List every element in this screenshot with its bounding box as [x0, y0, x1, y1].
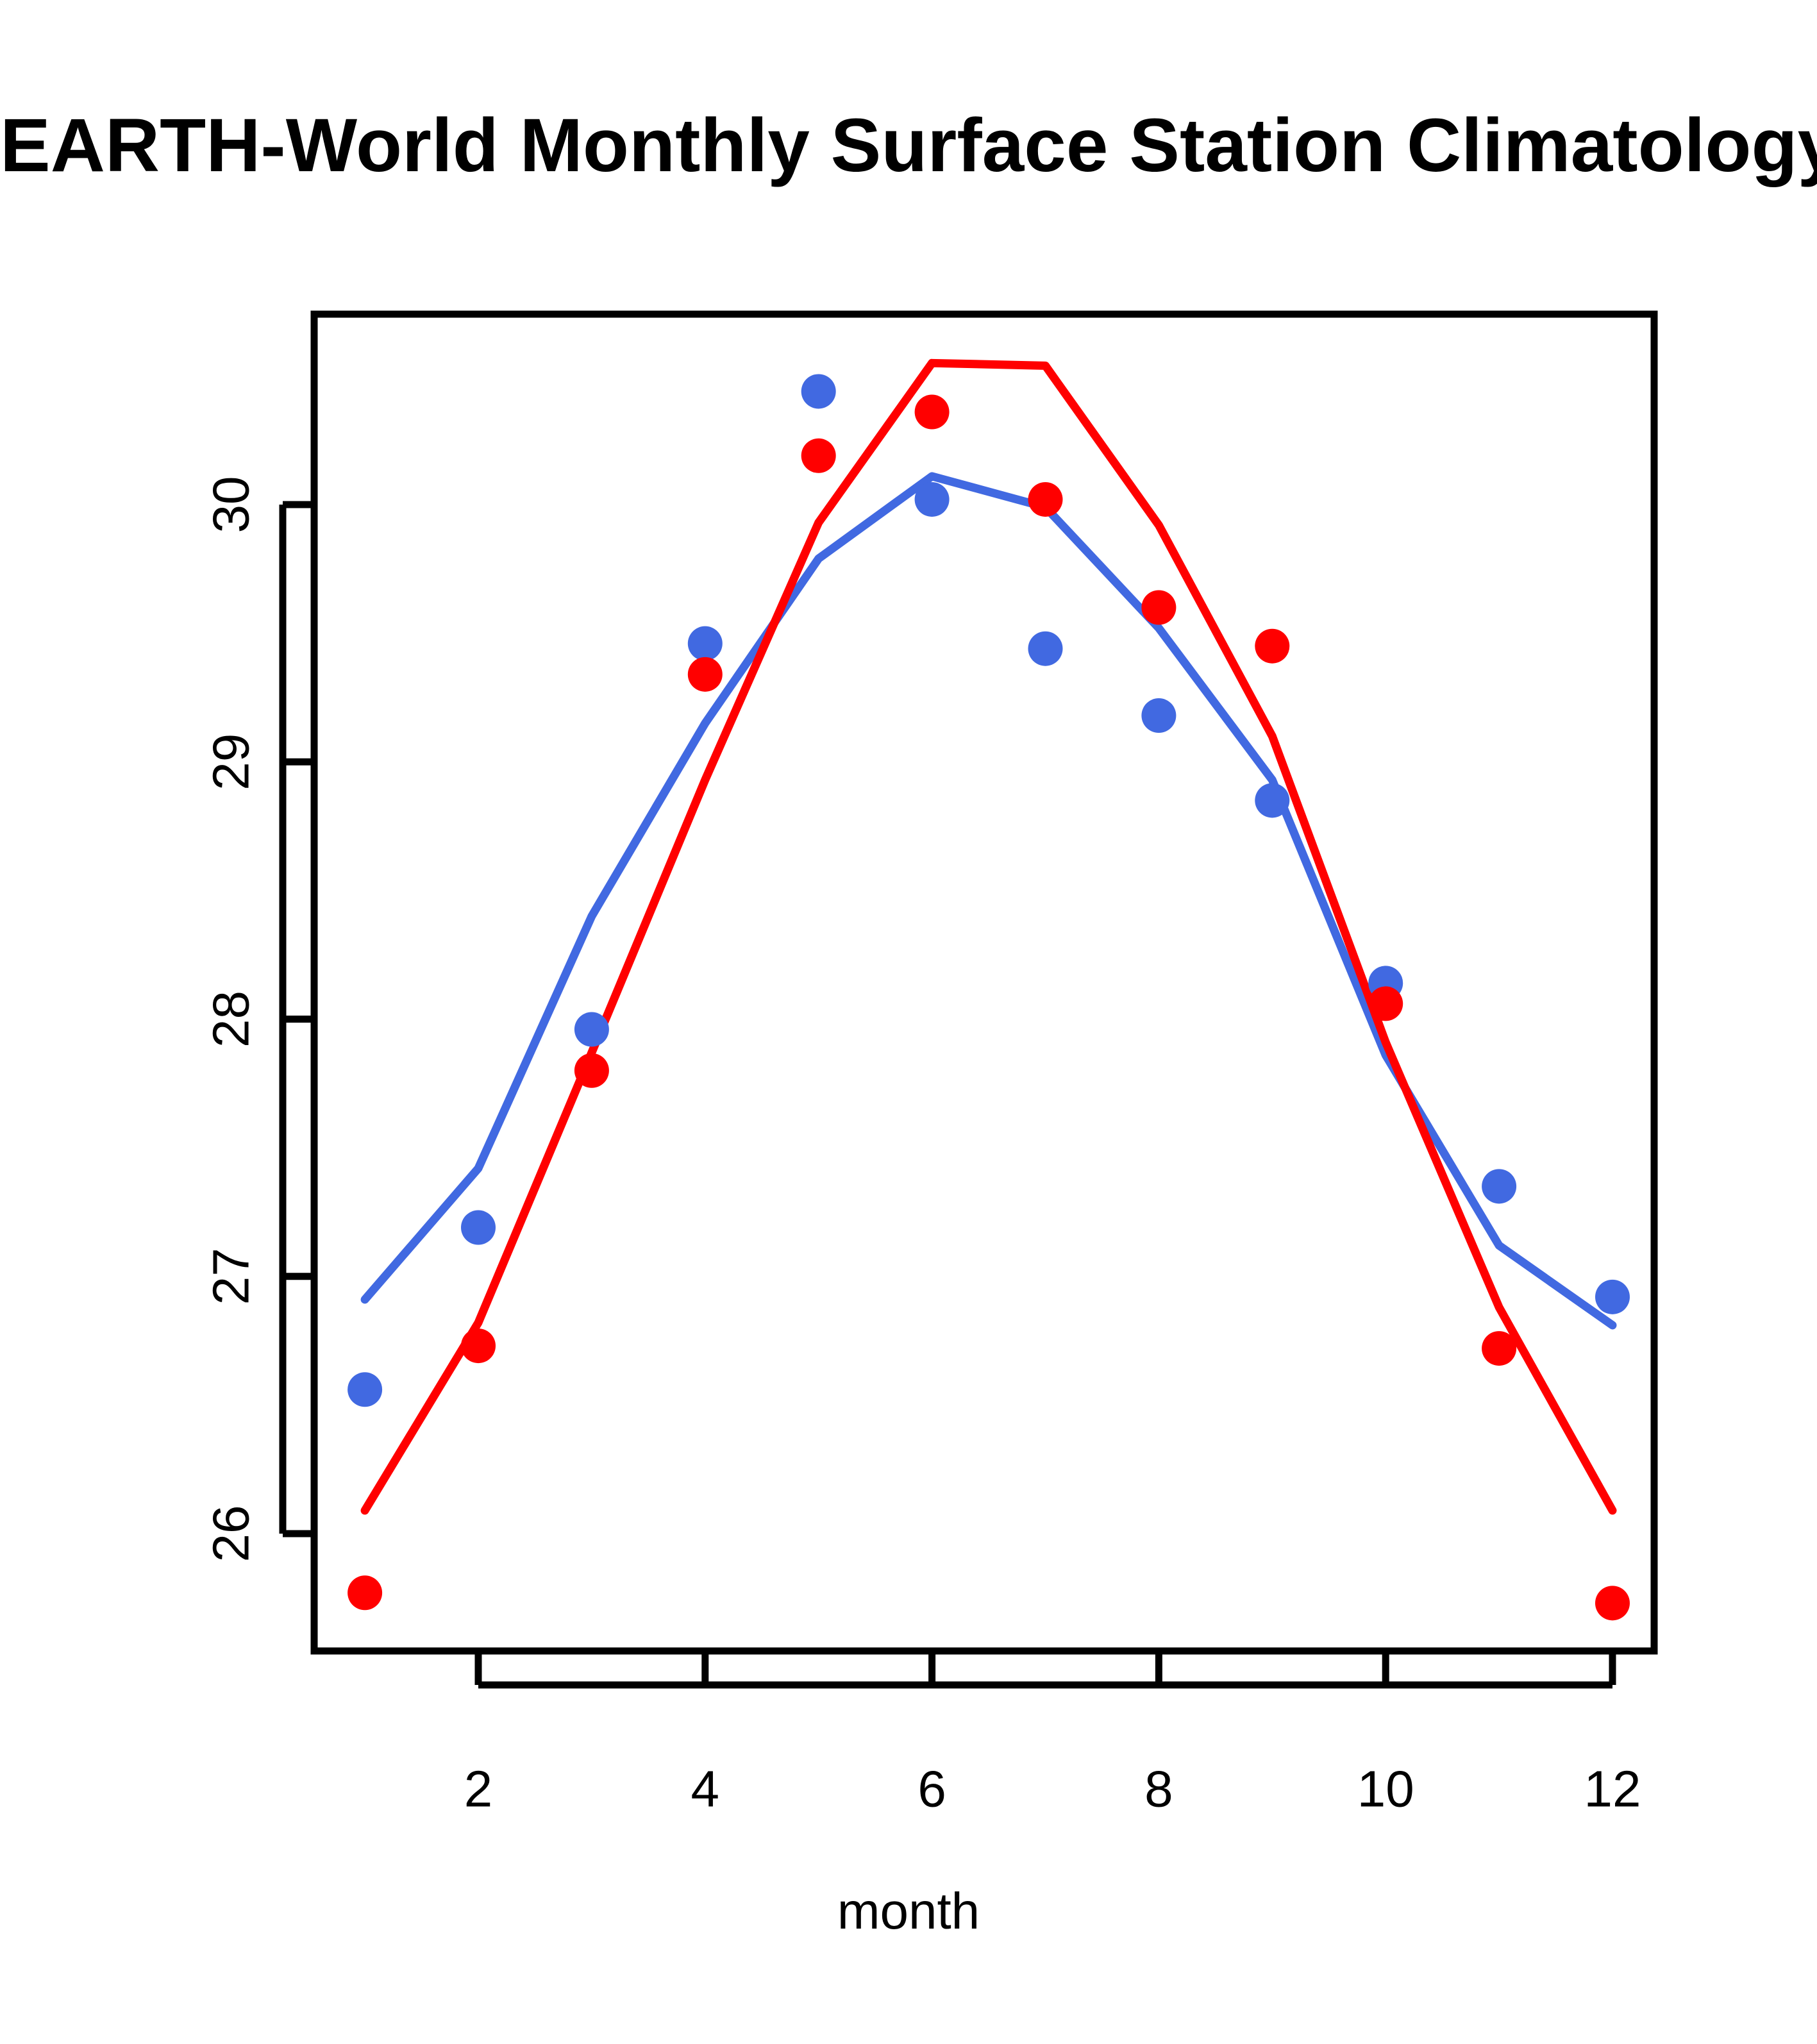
- data-point: [574, 1012, 609, 1047]
- data-point: [688, 657, 723, 692]
- chart-figure: EARTH-World Monthly Surface Station Clim…: [0, 0, 1817, 2044]
- y-tick-label: 29: [203, 733, 260, 791]
- series-lines: [365, 363, 1612, 1511]
- data-point: [915, 482, 950, 517]
- series-points: [347, 374, 1630, 1620]
- data-point: [461, 1328, 496, 1363]
- x-tick-label: 6: [917, 1761, 946, 1818]
- data-point: [1028, 482, 1063, 517]
- data-point: [1255, 629, 1289, 664]
- plot-frame: [314, 314, 1654, 1651]
- x-tick-label: 4: [691, 1761, 720, 1818]
- x-tick-label: 2: [464, 1761, 493, 1818]
- data-point: [1028, 632, 1063, 666]
- data-point: [574, 1053, 609, 1088]
- data-point: [1255, 783, 1289, 817]
- series-line: [365, 476, 1612, 1325]
- data-point: [1141, 698, 1176, 733]
- data-point: [1368, 986, 1403, 1021]
- x-tick-label: 10: [1357, 1761, 1414, 1818]
- y-tick-label: 30: [203, 476, 260, 533]
- x-tick-label: 12: [1584, 1761, 1641, 1818]
- chart-plot-area: 2627282930 24681012: [0, 0, 1817, 2044]
- data-point: [688, 626, 723, 661]
- x-axis-label: month: [0, 1882, 1817, 1941]
- y-tick-label: 27: [203, 1248, 260, 1305]
- data-point: [1482, 1331, 1516, 1366]
- y-tick-label: 26: [203, 1505, 260, 1562]
- data-point: [915, 395, 950, 430]
- data-point: [1141, 591, 1176, 625]
- x-tick-marks: [478, 1651, 1612, 1685]
- x-tick-labels: 24681012: [464, 1761, 1641, 1818]
- data-point: [1595, 1586, 1630, 1620]
- data-point: [801, 439, 836, 473]
- data-point: [347, 1372, 382, 1407]
- data-point: [461, 1210, 496, 1245]
- data-point: [801, 374, 836, 408]
- y-tick-labels: 2627282930: [203, 476, 260, 1562]
- series-line: [365, 363, 1612, 1511]
- data-point: [347, 1575, 382, 1610]
- data-point: [1482, 1169, 1516, 1203]
- y-tick-label: 28: [203, 991, 260, 1048]
- data-point: [1595, 1280, 1630, 1314]
- y-tick-marks: [283, 505, 314, 1534]
- x-tick-label: 8: [1144, 1761, 1173, 1818]
